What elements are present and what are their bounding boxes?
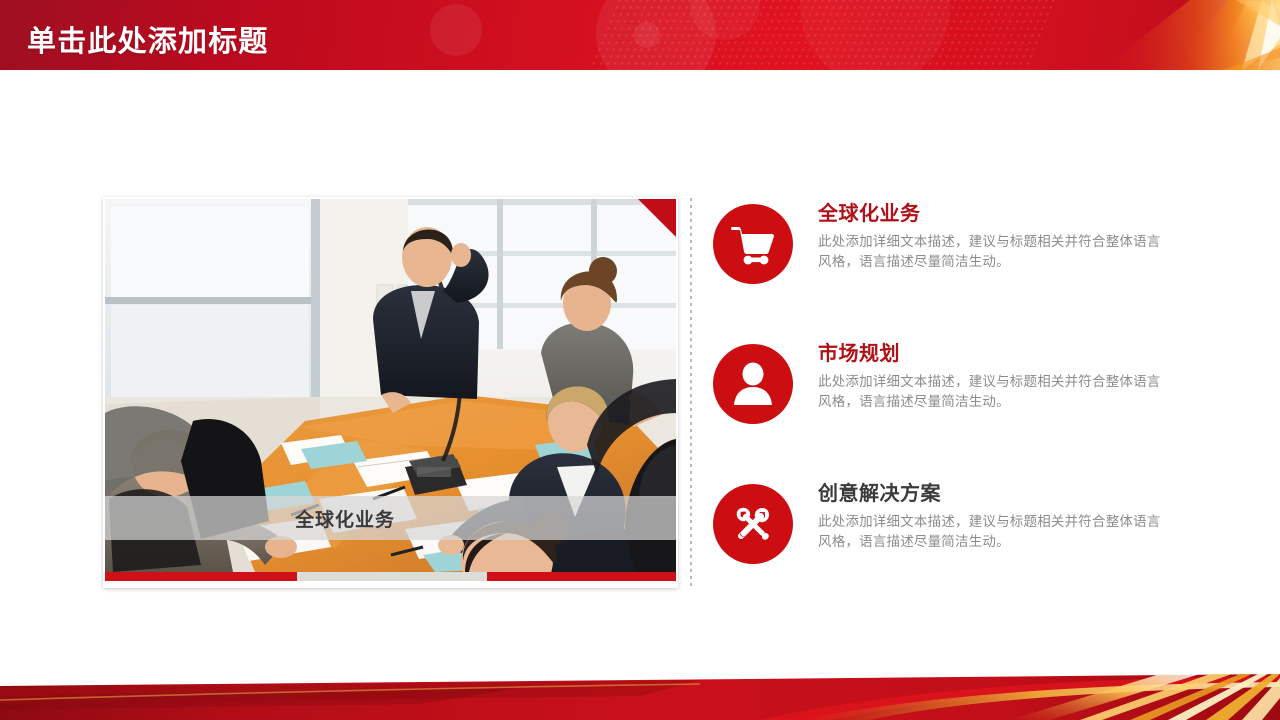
photo-corner-fold-decor <box>638 199 676 237</box>
feature-description: 此处添加详细文本描述，建议与标题相关并符合整体语言风格，语言描述尽量简洁生动。 <box>818 372 1168 411</box>
feature-title: 全球化业务 <box>818 202 1168 227</box>
header-light-rays-decor <box>980 0 1280 70</box>
photo-bottom-strip-middle <box>297 572 487 581</box>
feature-item[interactable]: 全球化业务 此处添加详细文本描述，建议与标题相关并符合整体语言风格，语言描述尽量… <box>713 196 1173 336</box>
feature-description: 此处添加详细文本描述，建议与标题相关并符合整体语言风格，语言描述尽量简洁生动。 <box>818 512 1168 551</box>
feature-description: 此处添加详细文本描述，建议与标题相关并符合整体语言风格，语言描述尽量简洁生动。 <box>818 232 1168 271</box>
vertical-dotted-divider <box>690 198 692 588</box>
feature-title: 市场规划 <box>818 342 1168 367</box>
feature-text-block: 市场规划 此处添加详细文本描述，建议与标题相关并符合整体语言风格，语言描述尽量简… <box>818 342 1168 411</box>
photo-bottom-strip-left <box>105 572 297 581</box>
photo-bottom-strip-right <box>487 572 676 581</box>
shopping-cart-icon <box>713 204 793 284</box>
photo-card[interactable]: 全球化业务 <box>103 197 678 588</box>
header-bubble-decor <box>634 22 660 48</box>
footer-decoration <box>0 674 1280 720</box>
feature-item[interactable]: 市场规划 此处添加详细文本描述，建议与标题相关并符合整体语言风格，语言描述尽量简… <box>713 336 1173 476</box>
user-person-icon <box>713 344 793 424</box>
photo-caption-bar: 全球化业务 <box>105 496 676 540</box>
wrench-screwdriver-tools-icon <box>713 484 793 564</box>
feature-item[interactable]: 创意解决方案 此处添加详细文本描述，建议与标题相关并符合整体语言风格，语言描述尽… <box>713 476 1173 616</box>
feature-text-block: 全球化业务 此处添加详细文本描述，建议与标题相关并符合整体语言风格，语言描述尽量… <box>818 202 1168 271</box>
slide-footer <box>0 674 1280 720</box>
feature-text-block: 创意解决方案 此处添加详细文本描述，建议与标题相关并符合整体语言风格，语言描述尽… <box>818 482 1168 551</box>
slide-header: 单击此处添加标题 <box>0 0 1280 70</box>
photo-caption-text: 全球化业务 <box>295 505 395 532</box>
header-bubble-decor <box>430 4 482 56</box>
feature-title: 创意解决方案 <box>818 482 1168 507</box>
header-bubble-decor <box>800 0 950 70</box>
feature-list: 全球化业务 此处添加详细文本描述，建议与标题相关并符合整体语言风格，语言描述尽量… <box>713 196 1173 616</box>
page-title: 单击此处添加标题 <box>27 18 269 60</box>
slide: 单击此处添加标题 <box>0 0 1280 720</box>
